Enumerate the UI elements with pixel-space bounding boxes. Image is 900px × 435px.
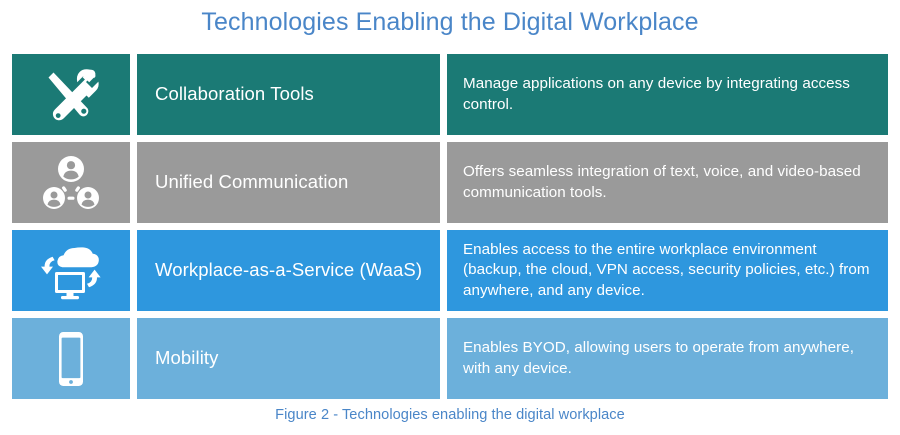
tools-icon xyxy=(39,66,103,124)
users-network-icon xyxy=(40,154,102,212)
table-row: Workplace-as-a-Service (WaaS) Enables ac… xyxy=(12,230,888,311)
table-row: Mobility Enables BYOD, allowing users to… xyxy=(12,318,888,399)
page-title: Technologies Enabling the Digital Workpl… xyxy=(0,8,900,37)
row-description-cell: Enables access to the entire workplace e… xyxy=(447,230,888,311)
row-label: Collaboration Tools xyxy=(155,83,314,105)
table-row: Unified Communication Offers seamless in… xyxy=(12,142,888,223)
row-icon-cell xyxy=(12,230,130,311)
column-gap xyxy=(130,142,137,223)
row-description: Offers seamless integration of text, voi… xyxy=(463,162,874,202)
row-description: Enables BYOD, allowing users to operate … xyxy=(463,338,874,378)
column-gap xyxy=(130,230,137,311)
row-label: Unified Communication xyxy=(155,171,348,193)
column-gap xyxy=(440,142,447,223)
row-icon-cell xyxy=(12,142,130,223)
row-label: Workplace-as-a-Service (WaaS) xyxy=(155,259,422,281)
row-label: Mobility xyxy=(155,347,219,369)
row-icon-cell xyxy=(12,54,130,135)
row-description: Manage applications on any device by int… xyxy=(463,74,874,114)
row-label-cell: Unified Communication xyxy=(137,142,440,223)
row-label-cell: Collaboration Tools xyxy=(137,54,440,135)
row-label-cell: Workplace-as-a-Service (WaaS) xyxy=(137,230,440,311)
row-description-cell: Enables BYOD, allowing users to operate … xyxy=(447,318,888,399)
column-gap xyxy=(440,230,447,311)
smartphone-icon xyxy=(51,329,91,389)
row-icon-cell xyxy=(12,318,130,399)
row-description-cell: Manage applications on any device by int… xyxy=(447,54,888,135)
column-gap xyxy=(440,318,447,399)
infographic-figure: Technologies Enabling the Digital Workpl… xyxy=(0,0,900,435)
table-row: Collaboration Tools Manage applications … xyxy=(12,54,888,135)
column-gap xyxy=(440,54,447,135)
row-description: Enables access to the entire workplace e… xyxy=(463,240,874,300)
technology-rows: Collaboration Tools Manage applications … xyxy=(12,54,888,406)
row-label-cell: Mobility xyxy=(137,318,440,399)
row-description-cell: Offers seamless integration of text, voi… xyxy=(447,142,888,223)
column-gap xyxy=(130,318,137,399)
column-gap xyxy=(130,54,137,135)
cloud-sync-monitor-icon xyxy=(38,242,104,300)
figure-caption: Figure 2 - Technologies enabling the dig… xyxy=(0,407,900,423)
